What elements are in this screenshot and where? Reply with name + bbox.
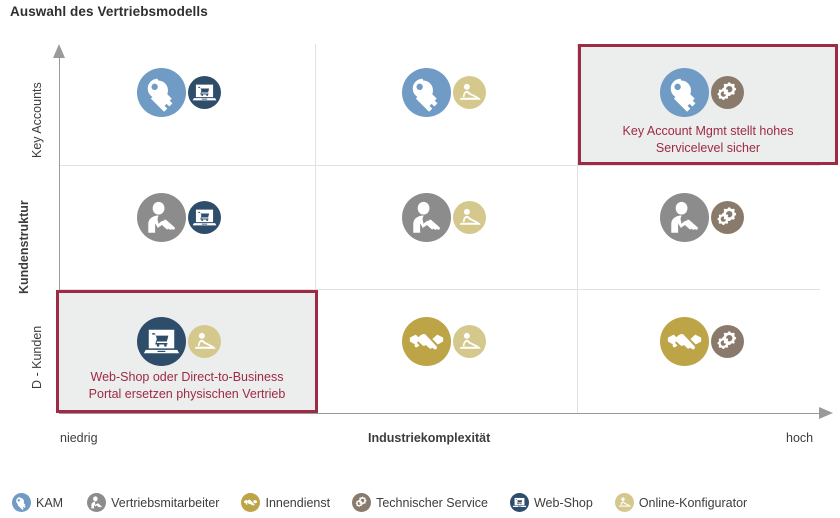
innendienst-icon [402, 317, 451, 366]
web-shop-icon [188, 201, 221, 234]
online-konfigurator-icon [453, 201, 486, 234]
highlight-text-line-2: Servicelevel sicher [581, 140, 835, 157]
online-konfigurator-icon [453, 325, 486, 358]
vertriebsmitarbeiter-icon [137, 193, 186, 242]
innendienst-icon [241, 493, 260, 512]
online-konfigurator-icon [188, 325, 221, 358]
highlight-text-line-1: Web-Shop oder Direct-to-Business [59, 369, 315, 386]
legend-label: Web-Shop [534, 496, 593, 510]
legend-label: Vertriebsmitarbeiter [111, 496, 219, 510]
innendienst-icon [660, 317, 709, 366]
legend-item-vertriebsmitarbeiter: Vertriebsmitarbeiter [87, 493, 219, 512]
web-shop-icon [137, 317, 186, 366]
matrix-cell-top-right [660, 68, 744, 117]
online-konfigurator-icon [615, 493, 634, 512]
y-axis-arrow-icon [53, 44, 65, 58]
kam-icon [402, 68, 451, 117]
highlight-text-line-1: Key Account Mgmt stellt hohes [581, 123, 835, 140]
web-shop-icon [510, 493, 529, 512]
legend: KAM Vertriebsmitarbeiter Innendienst [0, 487, 840, 518]
kam-icon [137, 68, 186, 117]
matrix-cell-top-left [137, 68, 221, 117]
kam-icon [660, 68, 709, 117]
x-axis-line [59, 413, 819, 414]
x-axis-high-label: hoch [786, 431, 813, 445]
sales-model-matrix: Key Accounts Kundenstruktur D - Kunden n… [0, 36, 840, 426]
matrix-cell-mid-center [402, 193, 486, 242]
x-axis-arrow-icon [819, 407, 833, 419]
highlight-text-line-2: Portal ersetzen physischen Vertrieb [59, 386, 315, 403]
y-axis-top-label: Key Accounts [30, 82, 44, 158]
online-konfigurator-icon [453, 76, 486, 109]
x-axis-title: Industriekomplexität [368, 431, 490, 445]
legend-item-technischer-service: Technischer Service [352, 493, 488, 512]
legend-label: KAM [36, 496, 63, 510]
matrix-cell-bottom-left [137, 317, 221, 366]
y-axis-title: Kundenstruktur [17, 200, 31, 294]
vertriebsmitarbeiter-icon [402, 193, 451, 242]
legend-item-web-shop: Web-Shop [510, 493, 593, 512]
technischer-service-icon [711, 325, 744, 358]
technischer-service-icon [711, 201, 744, 234]
vertriebsmitarbeiter-icon [87, 493, 106, 512]
legend-label: Innendienst [265, 496, 330, 510]
grid-hline-1 [60, 165, 820, 166]
matrix-cell-mid-right [660, 193, 744, 242]
y-axis-bottom-label: D - Kunden [30, 326, 44, 389]
legend-item-innendienst: Innendienst [241, 493, 330, 512]
legend-item-kam: KAM [12, 493, 63, 512]
matrix-cell-top-center [402, 68, 486, 117]
technischer-service-icon [711, 76, 744, 109]
matrix-cell-bottom-right [660, 317, 744, 366]
legend-item-online-konfigurator: Online-Konfigurator [615, 493, 747, 512]
legend-label: Technischer Service [376, 496, 488, 510]
kam-icon [12, 493, 31, 512]
technischer-service-icon [352, 493, 371, 512]
matrix-cell-mid-left [137, 193, 221, 242]
matrix-cell-bottom-center [402, 317, 486, 366]
vertriebsmitarbeiter-icon [660, 193, 709, 242]
web-shop-icon [188, 76, 221, 109]
x-axis-low-label: niedrig [60, 431, 98, 445]
legend-label: Online-Konfigurator [639, 496, 747, 510]
page-title: Auswahl des Vertriebsmodells [10, 4, 208, 19]
